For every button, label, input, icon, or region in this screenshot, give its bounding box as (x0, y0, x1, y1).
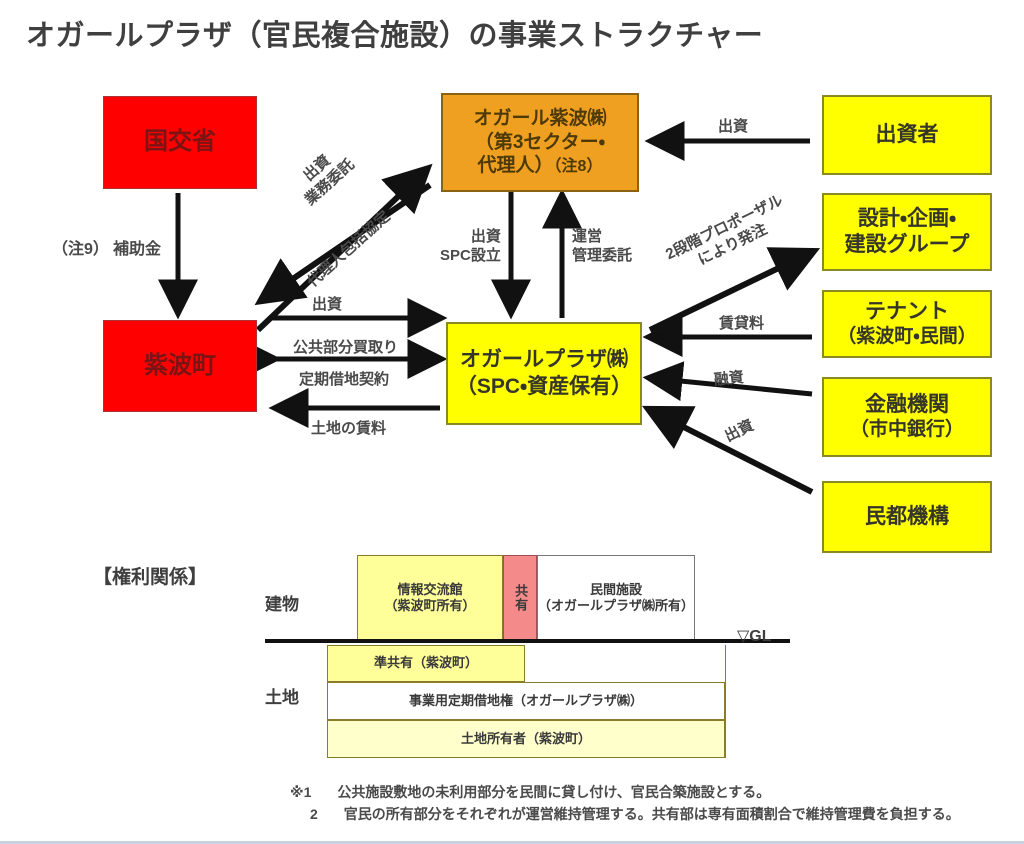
building-seg-minkan-shisetsu-owner: （オガールプラザ㈱所有） (538, 598, 694, 614)
box-bank[interactable]: 金融機関 （市中銀行） (822, 377, 992, 457)
label-toushi-spc-line1: 出資 (471, 228, 501, 245)
land-guide-right (725, 645, 726, 758)
land-seg-teiki-shakuchiken[interactable]: 事業用定期借地権（オガールプラザ㈱） (327, 682, 725, 720)
box-ogal-shiwa-line3: 代理人） (478, 155, 554, 176)
building-seg-kyoyu[interactable]: 共有 (503, 555, 537, 641)
box-tenant[interactable]: テナント （紫波町・民間） (822, 290, 992, 358)
diagram-canvas: オガールプラザ（官民複合施設）の事業ストラクチャー (0, 0, 1024, 844)
box-design-group-line2: 建設グループ (845, 232, 970, 258)
footnote-line-1: 公共施設敷地の未利用部分を民間に貸し付け、官民合築施設とする。 (337, 784, 770, 800)
box-bank-line2: （市中銀行） (850, 418, 964, 442)
box-ogal-shiwa-line1: オガール紫波㈱ (473, 107, 606, 131)
footnotes: ※1公共施設敷地の未利用部分を民間に貸し付け、官民合築施設とする。 2官民の所有… (290, 782, 960, 825)
land-seg-jun-kyoyu-text: 準共有（紫波町） (374, 655, 478, 671)
box-ogal-shiwa-note: （注8） (554, 158, 603, 175)
footnote-marker: ※1 (290, 784, 311, 800)
rights-building-label: 建物 (265, 590, 299, 615)
building-seg-minkan-shisetsu[interactable]: 民間施設 （オガールプラザ㈱所有） (537, 555, 695, 641)
land-seg-tochi-shoyusha[interactable]: 土地所有者（紫波町） (327, 720, 725, 758)
box-tenant-line2: （紫波町・民間） (837, 325, 976, 349)
label-toushi-investor: 出資 (718, 118, 748, 136)
box-mlit[interactable]: 国交省 (103, 96, 257, 189)
building-seg-kyoyu-name: 共有 (512, 584, 528, 612)
box-bank-line1: 金融機関 (865, 392, 949, 418)
box-shiwa-town[interactable]: 紫波町 (103, 320, 257, 412)
box-ogal-plaza-line1: オガールプラザ㈱ (460, 347, 628, 373)
label-teiki-shakuchi: 定期借地契約 (299, 371, 389, 389)
label-unei-itaku-line2: 管理委託 (572, 247, 632, 264)
label-tochi-chinryo: 土地の賃料 (311, 420, 386, 438)
box-investor[interactable]: 出資者 (822, 95, 992, 175)
label-unei-itaku-line1: 運営 (572, 228, 602, 245)
label-subsidy: 補助金 (113, 240, 161, 259)
label-toushi-gyomu: 出資 業務委託 (289, 142, 359, 210)
land-seg-jun-kyoyu[interactable]: 準共有（紫波町） (327, 645, 525, 682)
box-shiwa-town-label: 紫波町 (144, 351, 216, 381)
building-seg-joho-koryukan-name: 情報交流館 (384, 582, 475, 598)
footnote-line-2: 官民の所有部分をそれぞれが運営維持管理する。共有部は専有面積割合で維持管理費を負… (344, 806, 960, 822)
label-toushi-spc-line2: SPC設立 (440, 247, 501, 264)
arrow-toushi-minto (650, 410, 812, 492)
label-kokyo-kaitori: 公共部分買取り (293, 339, 398, 357)
box-mintoki-label: 民都機構 (865, 504, 949, 530)
rights-heading: 【権利関係】 (93, 562, 207, 589)
box-investor-label: 出資者 (876, 122, 939, 148)
label-chintairyo: 賃貸料 (719, 315, 764, 333)
box-design-group-line1: 設計・企画・ (858, 206, 956, 232)
page-title: オガールプラザ（官民複合施設）の事業ストラクチャー (26, 12, 763, 54)
box-mlit-label: 国交省 (144, 127, 216, 157)
label-dairinin-kyotei-text: 代理人包括協定 (304, 208, 393, 291)
ground-line (265, 639, 790, 643)
footnote-num-2: 2 (310, 806, 318, 822)
building-seg-minkan-shisetsu-name: 民間施設 (538, 582, 694, 598)
box-design-group[interactable]: 設計・企画・ 建設グループ (822, 193, 992, 271)
box-mintoki[interactable]: 民都機構 (822, 481, 992, 553)
rights-land-label: 土地 (265, 683, 299, 708)
box-ogal-plaza-line2: （SPC・資産保有） (456, 374, 632, 400)
label-toushi-town-plaza: 出資 (312, 296, 342, 314)
building-seg-joho-koryukan[interactable]: 情報交流館 （紫波町所有） (357, 555, 503, 641)
footnote-row-1: ※1公共施設敷地の未利用部分を民間に貸し付け、官民合築施設とする。 (290, 782, 960, 804)
box-ogal-shiwa-line3-wrap: 代理人）（注8） (478, 154, 603, 178)
label-dairinin-kyotei: 代理人包括協定 (304, 208, 394, 292)
footnote-row-2: 2官民の所有部分をそれぞれが運営維持管理する。共有部は専有面積割合で維持管理費を… (290, 804, 960, 826)
label-toushi-minto: 出資 (722, 417, 757, 446)
building-seg-joho-koryukan-owner: （紫波町所有） (384, 598, 475, 614)
box-ogal-shiwa[interactable]: オガール紫波㈱ （第3セクター・ 代理人）（注8） (441, 93, 639, 192)
label-unei-itaku: 運営 管理委託 (572, 228, 632, 266)
building-seg-joho-koryukan-text: 情報交流館 （紫波町所有） (384, 582, 475, 615)
gl-marker: ▽GL (737, 626, 772, 646)
building-seg-minkan-shisetsu-text: 民間施設 （オガールプラザ㈱所有） (538, 582, 694, 615)
label-proposal: 2段階プロポーザル により発注 (663, 192, 795, 282)
label-subsidy-note: （注9） (52, 240, 109, 259)
box-ogal-plaza[interactable]: オガールプラザ㈱ （SPC・資産保有） (446, 322, 642, 425)
box-tenant-line1: テナント (865, 299, 949, 325)
land-seg-teiki-shakuchiken-text: 事業用定期借地権（オガールプラザ㈱） (409, 693, 643, 709)
label-toushi-spc: 出資 SPC設立 (440, 228, 501, 266)
label-yushi: 融資 (713, 369, 745, 390)
land-seg-tochi-shoyusha-text: 土地所有者（紫波町） (461, 731, 591, 747)
box-ogal-shiwa-line2: （第3セクター・ (475, 131, 605, 155)
